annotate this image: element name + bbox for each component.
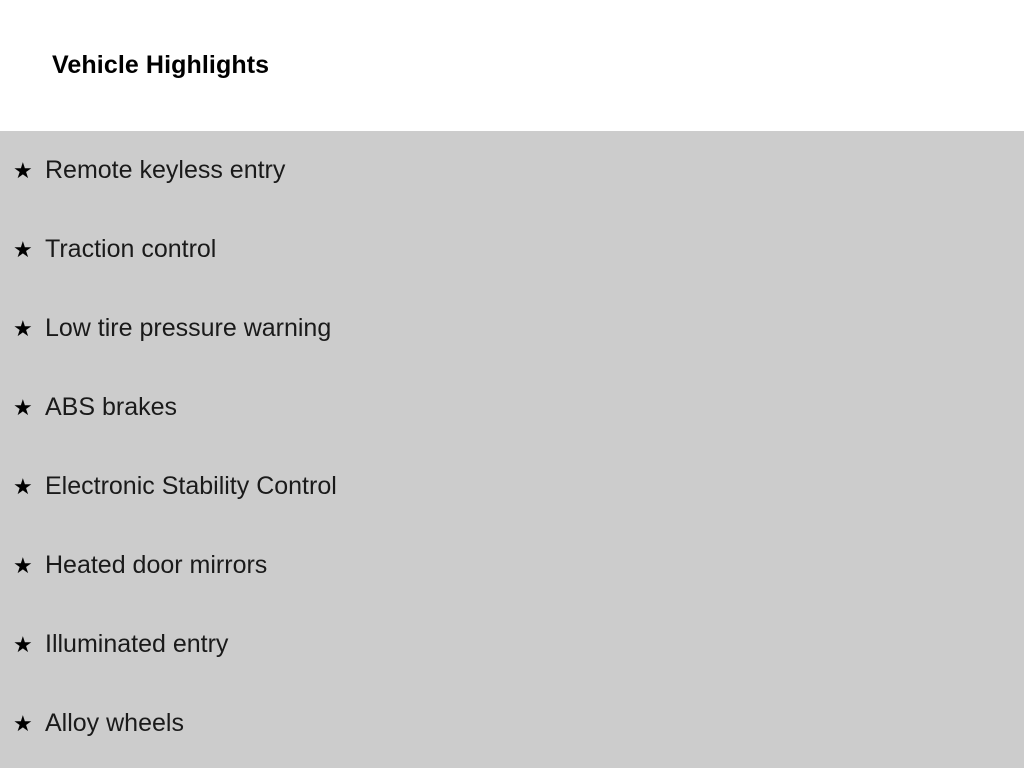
star-icon: ★ (13, 605, 33, 684)
highlight-label: Alloy wheels (45, 684, 184, 763)
highlight-label: Illuminated entry (45, 605, 228, 684)
vehicle-highlights-page: Vehicle Highlights ★ Remote keyless entr… (0, 0, 1024, 768)
star-icon: ★ (13, 210, 33, 289)
star-icon: ★ (13, 368, 33, 447)
star-icon: ★ (13, 684, 33, 763)
highlights-list: ★ Remote keyless entry ★ Traction contro… (0, 131, 1024, 763)
list-item: ★ Traction control (0, 210, 1024, 289)
list-item: ★ Heated door mirrors (0, 526, 1024, 605)
list-item: ★ Remote keyless entry (0, 131, 1024, 210)
list-item: ★ Alloy wheels (0, 684, 1024, 763)
page-header: Vehicle Highlights (0, 0, 1024, 131)
list-item: ★ Low tire pressure warning (0, 289, 1024, 368)
star-icon: ★ (13, 289, 33, 368)
star-icon: ★ (13, 526, 33, 605)
list-item: ★ ABS brakes (0, 368, 1024, 447)
highlight-label: ABS brakes (45, 368, 177, 447)
page-title: Vehicle Highlights (52, 50, 269, 80)
highlight-label: Low tire pressure warning (45, 289, 331, 368)
highlight-label: Heated door mirrors (45, 526, 267, 605)
list-item: ★ Illuminated entry (0, 605, 1024, 684)
star-icon: ★ (13, 131, 33, 210)
highlights-panel: ★ Remote keyless entry ★ Traction contro… (0, 131, 1024, 768)
star-icon: ★ (13, 447, 33, 526)
highlight-label: Electronic Stability Control (45, 447, 337, 526)
list-item: ★ Electronic Stability Control (0, 447, 1024, 526)
highlight-label: Traction control (45, 210, 216, 289)
highlight-label: Remote keyless entry (45, 131, 285, 210)
